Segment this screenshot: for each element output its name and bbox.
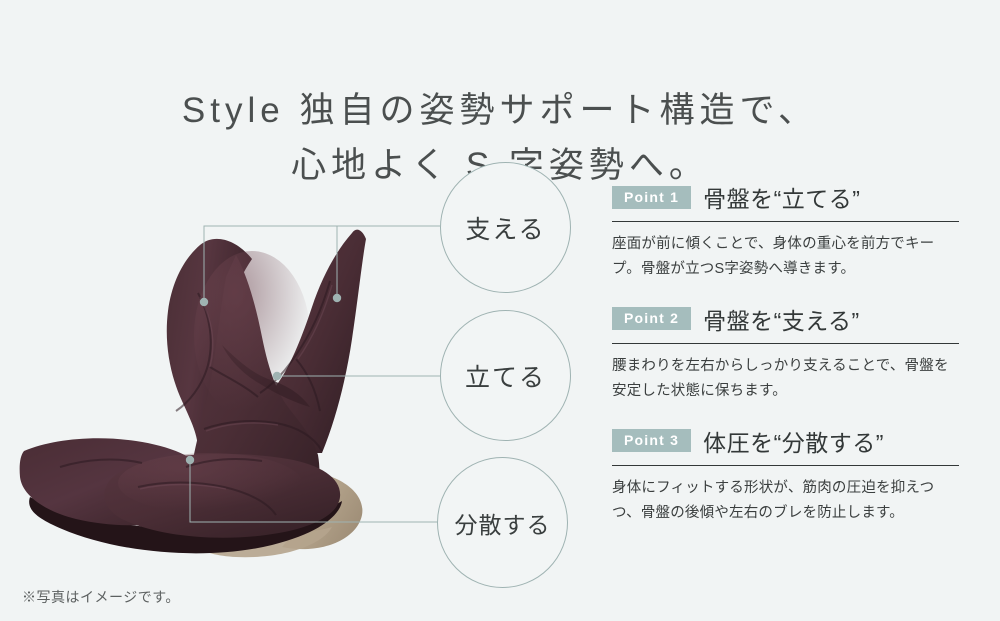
status-badge: Point 3 bbox=[612, 429, 691, 452]
point-body: 腰まわりを左右からしっかり支えることで、骨盤を安定した状態に保ちます。 bbox=[612, 354, 960, 404]
point-block-1: Point 1 骨盤を“立てる” 座面が前に傾くことで、身体の重心を前方でキープ… bbox=[612, 182, 962, 282]
divider bbox=[612, 465, 959, 466]
callout-circle-label: 支える bbox=[465, 210, 545, 246]
headline-line-1: Style 独自の姿勢サポート構造で、 bbox=[182, 91, 818, 130]
divider bbox=[612, 221, 959, 222]
image-disclaimer: ※写真はイメージです。 bbox=[22, 587, 180, 607]
point-title: 骨盤を“支える” bbox=[703, 302, 860, 336]
point-block-3: Point 3 体圧を“分散する” 身体にフィットする形状が、筋肉の圧迫を抑えつ… bbox=[612, 426, 962, 526]
point-body: 座面が前に傾くことで、身体の重心を前方でキープ。骨盤が立つS字姿勢へ導きます。 bbox=[612, 232, 960, 282]
divider bbox=[612, 343, 959, 344]
callout-circle-label: 立てる bbox=[465, 358, 546, 394]
posture-seat-illustration bbox=[0, 215, 445, 585]
point-heading: Point 3 体圧を“分散する” bbox=[612, 426, 962, 456]
callout-circle-upright[interactable]: 立てる bbox=[440, 310, 571, 441]
point-title: 骨盤を“立てる” bbox=[703, 180, 860, 214]
point-heading: Point 1 骨盤を“立てる” bbox=[612, 182, 962, 212]
product-photo bbox=[0, 215, 445, 585]
seat-sheen bbox=[118, 453, 302, 513]
point-title: 体圧を“分散する” bbox=[703, 424, 884, 458]
status-badge: Point 2 bbox=[612, 307, 691, 330]
status-badge: Point 1 bbox=[612, 186, 691, 209]
point-body: 身体にフィットする形状が、筋肉の圧迫を抑えつつ、骨盤の後傾や左右のブレを防止しま… bbox=[612, 476, 960, 526]
points-column: Point 1 骨盤を“立てる” 座面が前に傾くことで、身体の重心を前方でキープ… bbox=[612, 182, 962, 548]
callout-circle-support[interactable]: 支える bbox=[440, 162, 571, 293]
point-block-2: Point 2 骨盤を“支える” 腰まわりを左右からしっかり支えることで、骨盤を… bbox=[612, 304, 962, 404]
infographic-root: Style 独自の姿勢サポート構造で、 心地よく S 字姿勢へ。 bbox=[0, 0, 1000, 621]
callout-circle-distribute[interactable]: 分散する bbox=[437, 457, 568, 588]
callout-circle-label: 分散する bbox=[455, 506, 551, 540]
point-heading: Point 2 骨盤を“支える” bbox=[612, 304, 962, 334]
